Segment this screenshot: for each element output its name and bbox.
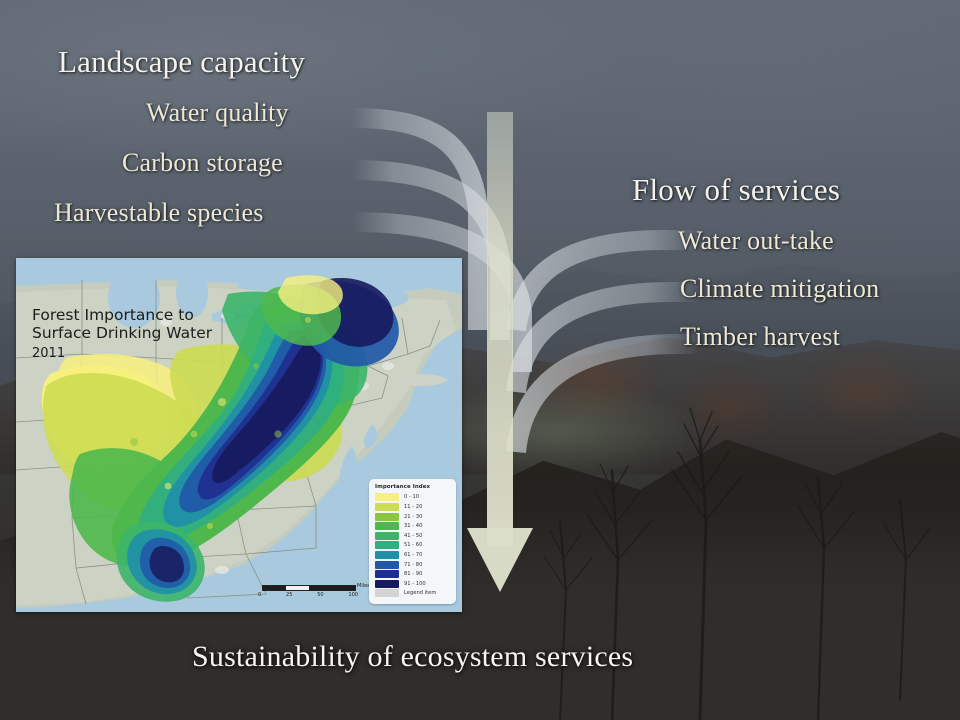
legend-row: 21 - 30 bbox=[375, 513, 451, 521]
legend-swatch bbox=[375, 503, 399, 511]
map-title-line1: Forest Importance to bbox=[32, 306, 212, 324]
bottom-caption: Sustainability of ecosystem services bbox=[192, 640, 633, 674]
legend-row: 71 - 80 bbox=[375, 561, 451, 569]
map-title: Forest Importance to Surface Drinking Wa… bbox=[32, 306, 212, 343]
legend-label: 71 - 80 bbox=[404, 562, 422, 568]
map-year: 2011 bbox=[32, 346, 65, 361]
map-figure-forest-importance[interactable]: Forest Importance to Surface Drinking Wa… bbox=[16, 258, 462, 612]
legend-label: 31 - 40 bbox=[404, 523, 422, 529]
scale-bar-graphic bbox=[262, 585, 356, 591]
legend-swatch bbox=[375, 522, 399, 530]
legend-swatch bbox=[375, 570, 399, 578]
legend-label: 61 - 70 bbox=[404, 552, 422, 558]
legend-row: 31 - 40 bbox=[375, 522, 451, 530]
legend-swatch bbox=[375, 580, 399, 588]
legend-row: 0 - 10 bbox=[375, 493, 451, 501]
legend-swatch bbox=[375, 532, 399, 540]
legend-row: 41 - 50 bbox=[375, 532, 451, 540]
map-title-line2: Surface Drinking Water bbox=[32, 324, 212, 342]
right-item-climate-mitigation: Climate mitigation bbox=[680, 274, 879, 304]
legend-row: 61 - 70 bbox=[375, 551, 451, 559]
right-item-water-out-take: Water out-take bbox=[678, 226, 834, 256]
legend-label: 51 - 60 bbox=[404, 542, 422, 548]
scale-tick-100: 100 bbox=[348, 592, 358, 598]
left-item-carbon-storage: Carbon storage bbox=[122, 148, 283, 178]
slide-canvas: Landscape capacity Water quality Carbon … bbox=[0, 0, 960, 720]
legend-swatch bbox=[375, 551, 399, 559]
scale-bar-unit: Miles bbox=[357, 583, 370, 589]
map-scale-bar: 0 25 50 100 Miles bbox=[262, 585, 358, 598]
legend-row: 81 - 90 bbox=[375, 570, 451, 578]
scale-tick-0: 0 bbox=[258, 592, 261, 598]
legend-swatch bbox=[375, 589, 399, 597]
left-item-water-quality: Water quality bbox=[146, 98, 289, 128]
legend-label: 11 - 20 bbox=[404, 504, 422, 510]
legend-row: Legend item bbox=[375, 589, 451, 597]
legend-row: 91 - 100 bbox=[375, 580, 451, 588]
outbound-ribbon-timber-harvest bbox=[516, 344, 700, 452]
legend-label: 91 - 100 bbox=[404, 581, 426, 587]
arrow-head bbox=[467, 528, 533, 592]
legend-swatch bbox=[375, 493, 399, 501]
legend-label: 41 - 50 bbox=[404, 533, 422, 539]
legend-label: Legend item bbox=[404, 590, 436, 596]
scale-bar-ticks: 0 25 50 100 bbox=[258, 592, 358, 598]
legend-label: 81 - 90 bbox=[404, 571, 422, 577]
legend-swatch bbox=[375, 513, 399, 521]
legend-title: Importance Index bbox=[375, 484, 451, 490]
legend-swatch bbox=[375, 561, 399, 569]
right-group-heading: Flow of services bbox=[632, 172, 840, 208]
map-legend[interactable]: Importance Index 0 - 1011 - 2021 - 3031 … bbox=[369, 479, 456, 604]
left-group-heading: Landscape capacity bbox=[58, 44, 305, 80]
legend-row: 11 - 20 bbox=[375, 503, 451, 511]
legend-label: 0 - 10 bbox=[404, 494, 419, 500]
legend-rows: 0 - 1011 - 2021 - 3031 - 4041 - 5051 - 6… bbox=[375, 493, 451, 597]
outbound-ribbon-group bbox=[516, 240, 700, 452]
legend-row: 51 - 60 bbox=[375, 541, 451, 549]
legend-label: 21 - 30 bbox=[404, 514, 422, 520]
scale-tick-50: 50 bbox=[317, 592, 323, 598]
right-item-timber-harvest: Timber harvest bbox=[680, 322, 840, 352]
scale-tick-25: 25 bbox=[286, 592, 292, 598]
left-item-harvestable-species: Harvestable species bbox=[54, 198, 264, 228]
legend-swatch bbox=[375, 541, 399, 549]
